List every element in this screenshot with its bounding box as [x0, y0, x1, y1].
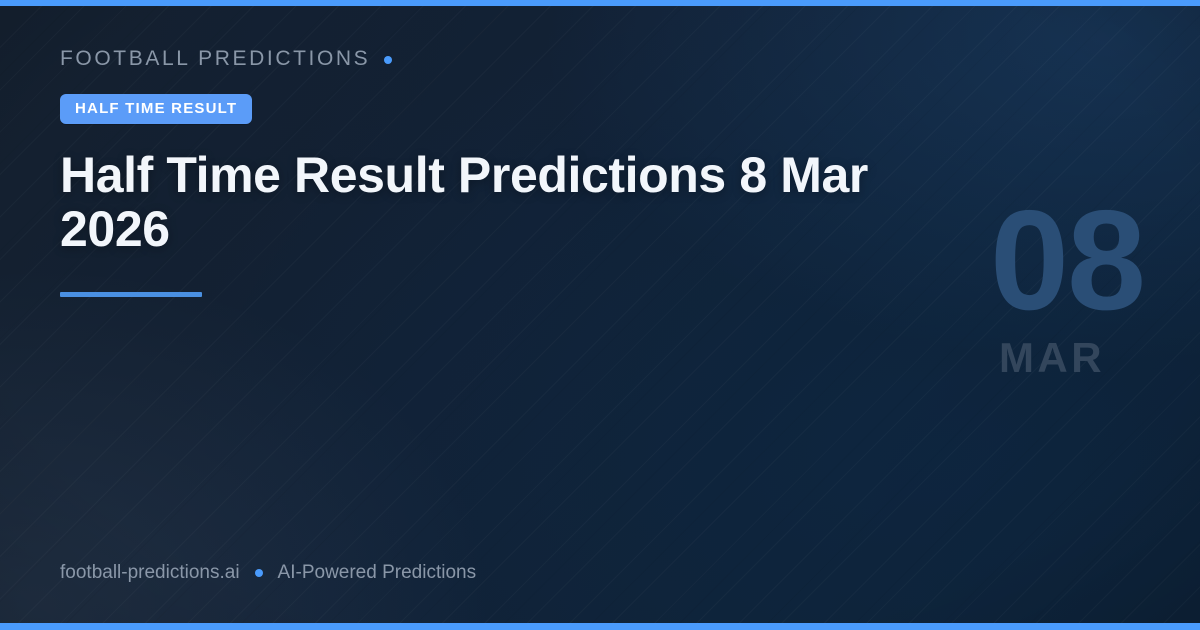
- eyebrow-row: FOOTBALL PREDICTIONS: [60, 42, 980, 76]
- eyebrow-label: FOOTBALL PREDICTIONS: [60, 47, 370, 71]
- date-month: MAR: [990, 337, 1114, 379]
- top-accent-rule: [0, 0, 1200, 6]
- accent-underline: [60, 292, 202, 297]
- status-badge: HALF TIME RESULT: [60, 94, 252, 124]
- footer: football-predictions.ai AI-Powered Predi…: [60, 562, 476, 584]
- page-title: Half Time Result Predictions 8 Mar 2026: [60, 148, 960, 256]
- separator-dot-icon: [255, 569, 263, 577]
- bottom-accent-rule: [0, 623, 1200, 630]
- date-display: 08 MAR: [990, 196, 1144, 379]
- card-content: FOOTBALL PREDICTIONS HALF TIME RESULT Ha…: [60, 42, 980, 297]
- dot-icon: [384, 56, 392, 64]
- footer-site-name: football-predictions.ai: [60, 562, 240, 584]
- footer-tagline: AI-Powered Predictions: [278, 562, 477, 584]
- date-day: 08: [990, 196, 1144, 327]
- og-share-card: 08 MAR FOOTBALL PREDICTIONS HALF TIME RE…: [0, 0, 1200, 630]
